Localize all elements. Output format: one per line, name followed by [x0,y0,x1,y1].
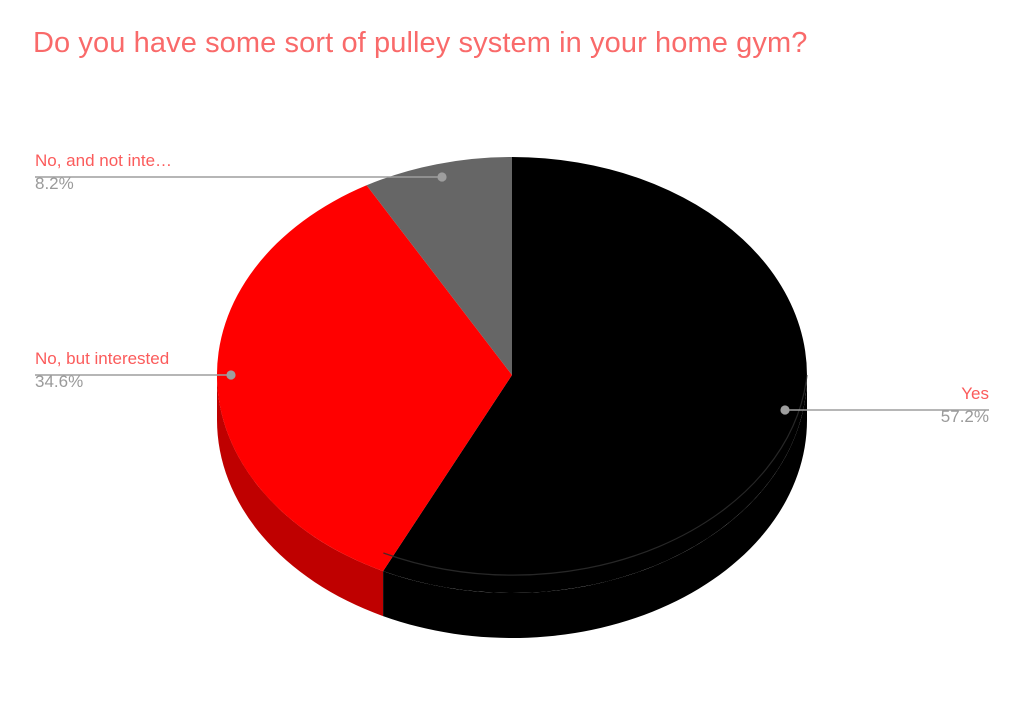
pie-callout-value-label: 57.2% [847,404,989,428]
pie-callout-yes[interactable]: Yes 57.2% [847,383,989,428]
pie-callout-value-label: 34.6% [35,369,169,393]
pie-callout-category-label: No, but interested [35,348,169,369]
leader-dot-no-and-not-interested [437,172,446,181]
pie-callout-value-label: 8.2% [35,171,172,195]
pie-callout-no-and-not-interested[interactable]: No, and not inte… 8.2% [35,150,172,195]
pie-callout-category-label: Yes [847,383,989,404]
pie-callout-no-but-interested[interactable]: No, but interested 34.6% [35,348,169,393]
leader-dot-no-but-interested [226,370,235,379]
pie-chart-figure: Do you have some sort of pulley system i… [0,0,1024,724]
pie-callout-category-label: No, and not inte… [35,150,172,171]
pie-top-faces [217,157,807,593]
leader-dot-yes [780,405,789,414]
